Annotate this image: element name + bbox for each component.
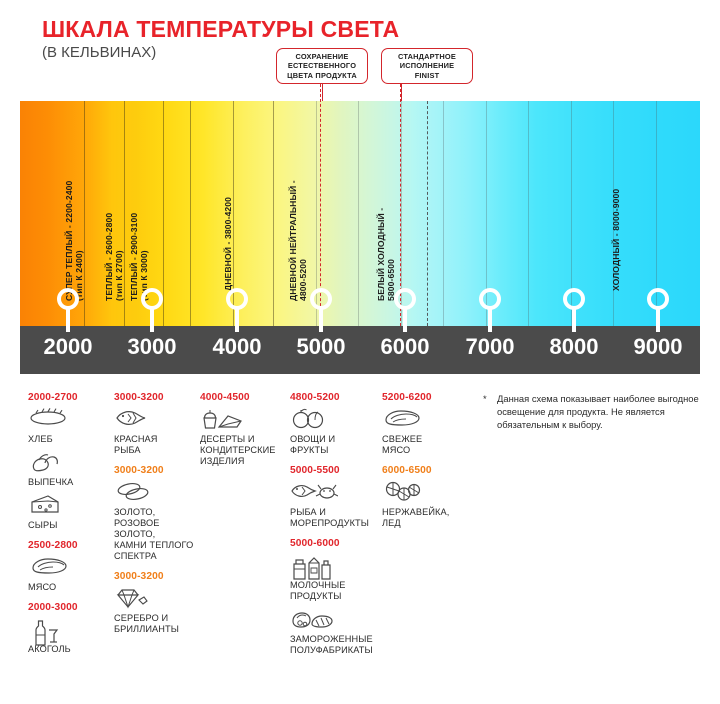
legend-item: ОВОЩИ И ФРУКТЫ [290, 407, 384, 456]
band-divider [190, 101, 191, 326]
legend-item: КРАСНАЯ РЫБА [114, 407, 202, 456]
legend-group: 5000-6000МОЛОЧНЫЕ ПРОДУКТЫЗАМОРОЖЕННЫЕ П… [290, 538, 384, 656]
legend-item: ВЫПЕЧКА [28, 450, 116, 488]
legend-col-5: 5200-6200СВЕЖЕЕ МЯСО6000-6500НЕРЖАВЕЙКА,… [382, 392, 470, 538]
bread-icon [28, 407, 116, 433]
diamond-icon [114, 586, 202, 612]
scale-number-3000: 3000 [107, 334, 197, 360]
band-divider [163, 101, 164, 326]
callout-natural-color-line: СОХРАНЕНИЕ [287, 52, 357, 62]
scale-marker-stem [150, 308, 154, 332]
scale-marker-3000[interactable] [141, 288, 163, 310]
scale-marker-stem [572, 308, 576, 332]
red-fish-icon [114, 407, 202, 433]
page-title: ШКАЛА ТЕМПЕРАТУРЫ СВЕТА [42, 16, 399, 43]
callout-finist-standard-line: ИСПОЛНЕНИЕ [398, 61, 456, 71]
callout-finist-standard-line: СТАНДАРТНОЕ [398, 52, 456, 62]
legend-item: МОЛОЧНЫЕ ПРОДУКТЫ [290, 553, 384, 602]
band-divider [273, 101, 274, 326]
legend-item: МЯСО [28, 555, 116, 593]
scale-marker-6000[interactable] [394, 288, 416, 310]
legend-item: ДЕСЕРТЫ И КОНДИТЕРСКИЕ ИЗДЕЛИЯ [200, 407, 288, 467]
scale-marker-4000[interactable] [226, 288, 248, 310]
scale-number-8000: 8000 [529, 334, 619, 360]
legend-group: 2000-2700ХЛЕБВЫПЕЧКАСЫРЫ [28, 392, 116, 531]
legend-item: ЗАМОРОЖЕННЫЕ ПОЛУФАБРИКАТЫ [290, 607, 384, 656]
legend-range-6000-6500: 6000-6500 [382, 465, 470, 476]
legend-group: 5200-6200СВЕЖЕЕ МЯСО [382, 392, 470, 456]
footnote: * Данная схема показывает наиболее выгод… [483, 392, 711, 431]
legend-item-label: КРАСНАЯ РЫБА [114, 434, 202, 456]
band-label-super-warm: СУПЕР ТЕПЛЫЙ - 2200-2400 (тип К 2400) [64, 181, 84, 301]
legend-item-label: АКОГОЛЬ [28, 644, 116, 655]
color-temperature-bar: СУПЕР ТЕПЛЫЙ - 2200-2400 (тип К 2400)ТЕП… [20, 101, 700, 326]
scale-number-4000: 4000 [192, 334, 282, 360]
scale-marker-2000[interactable] [57, 288, 79, 310]
legend-item-label: МОЛОЧНЫЕ ПРОДУКТЫ [290, 580, 384, 602]
scale-number-2000: 2000 [23, 334, 113, 360]
legend-item: СВЕЖЕЕ МЯСО [382, 407, 470, 456]
legend-range-4800-5200: 4800-5200 [290, 392, 384, 403]
legend-section: 2000-2700ХЛЕБВЫПЕЧКАСЫРЫ2500-2800МЯСО200… [0, 392, 720, 692]
callout-natural-color-line: ЦВЕТА ПРОДУКТА [287, 71, 357, 81]
steel-ice-icon [382, 480, 470, 506]
legend-group: 4800-5200ОВОЩИ И ФРУКТЫ [290, 392, 384, 456]
band-label-cold: ХОЛОДНЫЙ - 8000-9000 [611, 189, 621, 291]
legend-range-2500-2800: 2500-2800 [28, 540, 116, 551]
legend-item-label: СЫРЫ [28, 520, 116, 531]
legend-range-2000-2700: 2000-2700 [28, 392, 116, 403]
legend-range-3000-3200: 3000-3200 [114, 392, 202, 403]
legend-item-label: НЕРЖАВЕЙКА, ЛЕД [382, 507, 470, 529]
legend-range-2000-3000: 2000-3000 [28, 602, 116, 613]
scale-marker-5000[interactable] [310, 288, 332, 310]
scale-marker-stem [656, 308, 660, 332]
legend-group: 2000-3000АКОГОЛЬ [28, 602, 116, 655]
legend-range-3000-3200: 3000-3200 [114, 571, 202, 582]
scale-marker-stem [66, 308, 70, 332]
legend-item: ХЛЕБ [28, 407, 116, 445]
band-divider [528, 101, 529, 326]
highlight-line-grey [427, 101, 428, 326]
legend-group: 6000-6500НЕРЖАВЕЙКА, ЛЕД [382, 465, 470, 529]
frozen-food-icon [290, 607, 384, 633]
band-label-day-neutral: ДНЕВНОЙ НЕЙТРАЛЬНЫЙ - 4800-5200 [288, 180, 308, 301]
legend-col-4: 4800-5200ОВОЩИ И ФРУКТЫ5000-5500РЫБА И М… [290, 392, 384, 665]
legend-range-5200-6200: 5200-6200 [382, 392, 470, 403]
legend-range-3000-3200: 3000-3200 [114, 465, 202, 476]
legend-item-label: ЗАМОРОЖЕННЫЕ ПОЛУФАБРИКАТЫ [290, 634, 384, 656]
scale-number-7000: 7000 [445, 334, 535, 360]
legend-item-label: ЗОЛОТО, РОЗОВОЕ ЗОЛОТО, КАМНИ ТЕПЛОГО СП… [114, 507, 202, 562]
callout-natural-color: СОХРАНЕНИЕЕСТЕСТВЕННОГОЦВЕТА ПРОДУКТА [276, 48, 368, 84]
scale-number-9000: 9000 [613, 334, 703, 360]
callout-natural-color-stem [322, 84, 323, 102]
band-label-white-cold: БЕЛЫЙ ХОЛОДНЫЙ - 5800-6500 [376, 208, 396, 301]
callout-finist-standard-line: FINIST [398, 71, 456, 81]
legend-item-label: ХЛЕБ [28, 434, 116, 445]
gold-rings-icon [114, 480, 202, 506]
legend-col-1: 2000-2700ХЛЕБВЫПЕЧКАСЫРЫ2500-2800МЯСО200… [28, 392, 116, 664]
legend-item-label: СВЕЖЕЕ МЯСО [382, 434, 470, 456]
page-subtitle: (В КЕЛЬВИНАХ) [42, 44, 156, 61]
legend-group: 5000-5500РЫБА И МОРЕПРОДУКТЫ [290, 465, 384, 529]
dessert-icon [200, 407, 288, 433]
legend-group: 2500-2800МЯСО [28, 540, 116, 593]
legend-item: АКОГОЛЬ [28, 617, 116, 655]
seafood-icon [290, 480, 384, 506]
legend-range-5000-6000: 5000-6000 [290, 538, 384, 549]
cheese-icon [28, 493, 116, 519]
legend-item: ЗОЛОТО, РОЗОВОЕ ЗОЛОТО, КАМНИ ТЕПЛОГО СП… [114, 480, 202, 562]
legend-group: 4000-4500ДЕСЕРТЫ И КОНДИТЕРСКИЕ ИЗДЕЛИЯ [200, 392, 288, 467]
scale-marker-stem [403, 308, 407, 332]
callout-natural-color-line: ЕСТЕСТВЕННОГО [287, 61, 357, 71]
band-label-warm-2700: ТЕПЛЫЙ - 2600-2800 (тип К 2700) [104, 213, 124, 301]
legend-col-3: 4000-4500ДЕСЕРТЫ И КОНДИТЕРСКИЕ ИЗДЕЛИЯ [200, 392, 288, 476]
footnote-star: * [483, 392, 487, 405]
legend-group: 3000-3200ЗОЛОТО, РОЗОВОЕ ЗОЛОТО, КАМНИ Т… [114, 465, 202, 562]
legend-item: СЕРЕБРО И БРИЛЛИАНТЫ [114, 586, 202, 635]
legend-group: 3000-3200СЕРЕБРО И БРИЛЛИАНТЫ [114, 571, 202, 635]
scale-marker-8000[interactable] [563, 288, 585, 310]
band-divider [443, 101, 444, 326]
pastry-icon [28, 450, 116, 476]
legend-range-4000-4500: 4000-4500 [200, 392, 288, 403]
legend-item-label: СЕРЕБРО И БРИЛЛИАНТЫ [114, 613, 202, 635]
scale-number-6000: 6000 [360, 334, 450, 360]
legend-item-label: ДЕСЕРТЫ И КОНДИТЕРСКИЕ ИЗДЕЛИЯ [200, 434, 288, 467]
band-divider [358, 101, 359, 326]
alcohol-icon [28, 617, 116, 643]
vegetables-fruits-icon [290, 407, 384, 433]
footnote-text: Данная схема показывает наиболее выгодно… [497, 392, 711, 431]
band-label-daylight: ДНЕВНОЙ - 3800-4200 [223, 197, 233, 291]
scale-marker-7000[interactable] [479, 288, 501, 310]
legend-range-5000-5500: 5000-5500 [290, 465, 384, 476]
legend-item-label: РЫБА И МОРЕПРОДУКТЫ [290, 507, 384, 529]
legend-group: 3000-3200КРАСНАЯ РЫБА [114, 392, 202, 456]
band-divider [84, 101, 85, 326]
band-label-warm-3000: ТЕПЛЫЙ - 2900-3100 (тип К 3000) [129, 213, 149, 301]
dairy-icon [290, 553, 384, 579]
legend-item: СЫРЫ [28, 493, 116, 531]
scale-marker-stem [488, 308, 492, 332]
legend-item: НЕРЖАВЕЙКА, ЛЕД [382, 480, 470, 529]
scale-marker-stem [235, 308, 239, 332]
scale-marker-stem [319, 308, 323, 332]
legend-item-label: ВЫПЕЧКА [28, 477, 116, 488]
band-divider [124, 101, 125, 326]
legend-item: РЫБА И МОРЕПРОДУКТЫ [290, 480, 384, 529]
legend-col-2: 3000-3200КРАСНАЯ РЫБА3000-3200ЗОЛОТО, РО… [114, 392, 202, 644]
scale-marker-9000[interactable] [647, 288, 669, 310]
callout-finist-standard-stem [401, 84, 402, 102]
legend-item-label: ОВОЩИ И ФРУКТЫ [290, 434, 384, 456]
legend-item-label: МЯСО [28, 582, 116, 593]
scale-number-5000: 5000 [276, 334, 366, 360]
callout-finist-standard: СТАНДАРТНОЕИСПОЛНЕНИЕFINIST [381, 48, 473, 84]
meat-icon [28, 555, 116, 581]
fresh-meat-icon [382, 407, 470, 433]
